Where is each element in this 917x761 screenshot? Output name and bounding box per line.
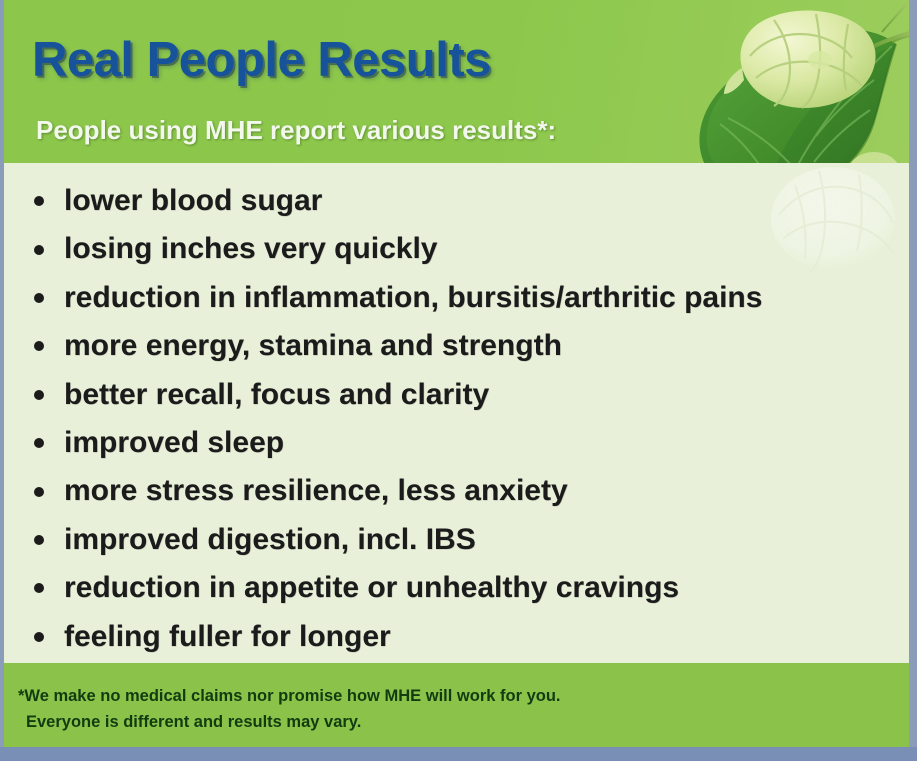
list-item: more stress resilience, less anxiety bbox=[4, 467, 913, 515]
benefits-list: lower blood sugar losing inches very qui… bbox=[4, 163, 913, 661]
page-title: Real People Results bbox=[32, 32, 491, 88]
list-item: better recall, focus and clarity bbox=[4, 371, 913, 419]
bullet-dot-icon bbox=[34, 293, 44, 303]
benefit-label: more energy, stamina and strength bbox=[64, 329, 562, 362]
benefit-label: lower blood sugar bbox=[64, 184, 322, 217]
bullet-dot-icon bbox=[34, 583, 44, 593]
list-item: reduction in appetite or unhealthy cravi… bbox=[4, 564, 913, 612]
disclaimer-line-2: Everyone is different and results may va… bbox=[26, 713, 361, 732]
disclaimer-footer: *We make no medical claims nor promise h… bbox=[4, 663, 913, 747]
list-item: feeling fuller for longer bbox=[4, 613, 913, 661]
real-people-results-poster: Real People Results People using MHE rep… bbox=[0, 0, 917, 761]
right-frame-edge bbox=[909, 0, 917, 747]
bullet-dot-icon bbox=[34, 535, 44, 545]
list-item: more energy, stamina and strength bbox=[4, 322, 913, 370]
benefit-label: more stress resilience, less anxiety bbox=[64, 474, 568, 507]
benefit-label: improved sleep bbox=[64, 426, 284, 459]
benefit-label: feeling fuller for longer bbox=[64, 620, 391, 653]
benefit-label: improved digestion, incl. IBS bbox=[64, 523, 476, 556]
bullet-dot-icon bbox=[34, 245, 44, 255]
benefits-panel: lower blood sugar losing inches very qui… bbox=[4, 163, 913, 663]
bottom-frame-edge bbox=[0, 747, 917, 761]
disclaimer-line-1: *We make no medical claims nor promise h… bbox=[18, 687, 561, 706]
bullet-dot-icon bbox=[34, 196, 44, 206]
list-item: improved sleep bbox=[4, 419, 913, 467]
bullet-dot-icon bbox=[34, 341, 44, 351]
bullet-dot-icon bbox=[34, 632, 44, 642]
benefit-label: reduction in appetite or unhealthy cravi… bbox=[64, 571, 679, 604]
benefit-label: reduction in inflammation, bursitis/arth… bbox=[64, 281, 762, 314]
bullet-dot-icon bbox=[34, 487, 44, 497]
list-item: lower blood sugar bbox=[4, 177, 913, 225]
benefit-label: better recall, focus and clarity bbox=[64, 378, 489, 411]
poster-header: Real People Results People using MHE rep… bbox=[4, 0, 913, 163]
page-subtitle: People using MHE report various results*… bbox=[36, 115, 556, 146]
list-item: reduction in inflammation, bursitis/arth… bbox=[4, 274, 913, 322]
bullet-dot-icon bbox=[34, 390, 44, 400]
bullet-dot-icon bbox=[34, 438, 44, 448]
benefit-label: losing inches very quickly bbox=[64, 232, 437, 265]
list-item: improved digestion, incl. IBS bbox=[4, 516, 913, 564]
list-item: losing inches very quickly bbox=[4, 225, 913, 273]
left-frame-edge bbox=[0, 0, 4, 747]
poster-card: Real People Results People using MHE rep… bbox=[4, 0, 913, 747]
